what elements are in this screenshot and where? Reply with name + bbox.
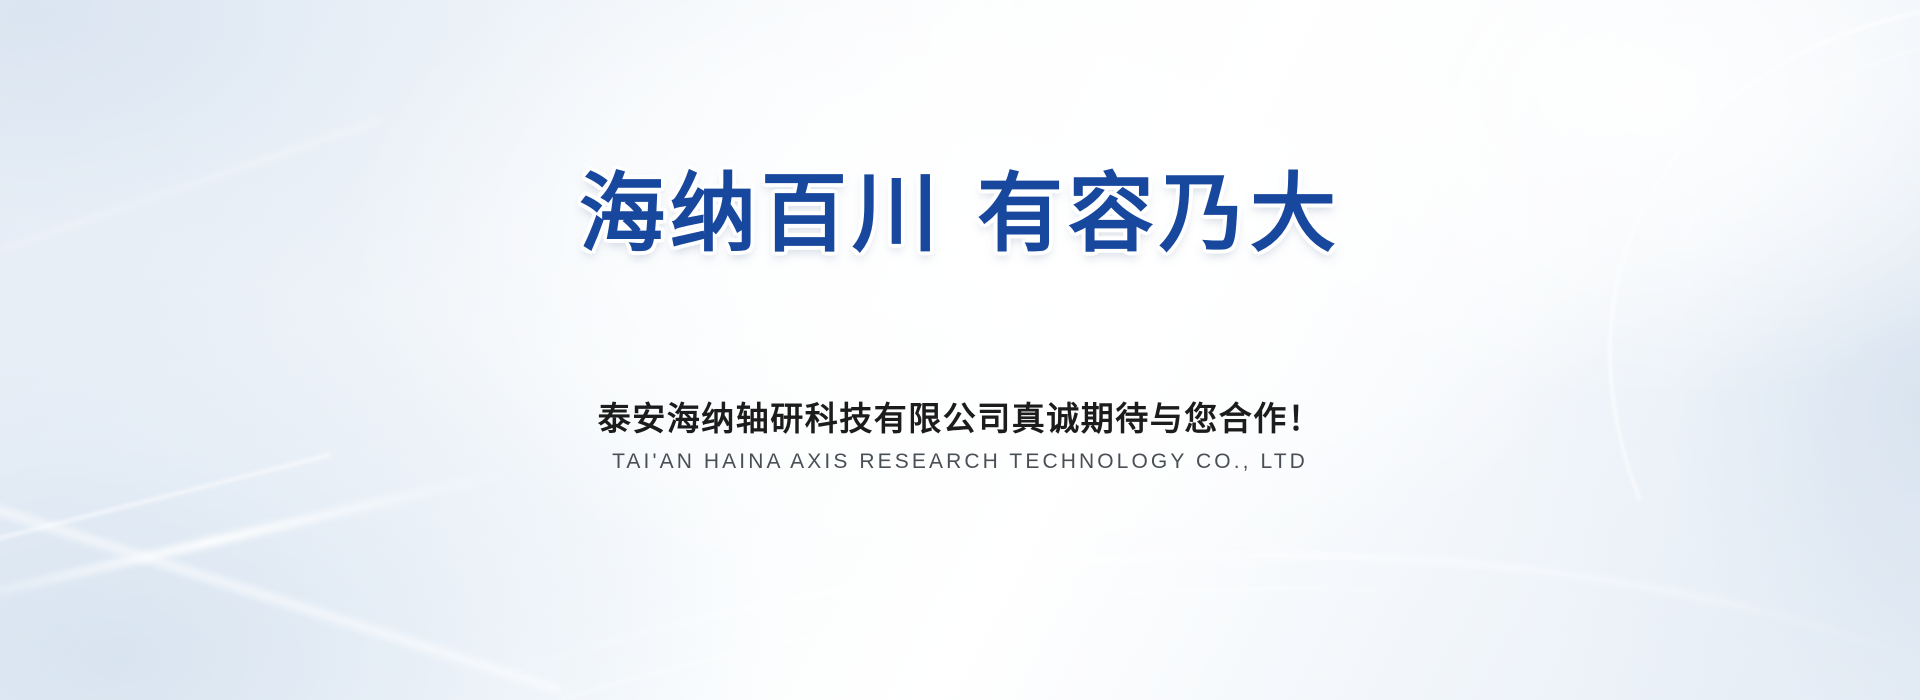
hero-banner: 海纳百川有容乃大 泰安海纳轴研科技有限公司真诚期待与您合作！ TAI'AN HA… bbox=[0, 0, 1920, 700]
headline-part-2: 有容乃大 bbox=[977, 164, 1341, 264]
subtitle-english: TAI'AN HAINA AXIS RESEARCH TECHNOLOGY CO… bbox=[0, 450, 1920, 474]
headline-part-1: 海纳百川 bbox=[579, 164, 943, 264]
page-title: 海纳百川有容乃大 bbox=[0, 168, 1920, 261]
banner-content: 海纳百川有容乃大 泰安海纳轴研科技有限公司真诚期待与您合作！ TAI'AN HA… bbox=[0, 0, 1920, 700]
subtitle-chinese: 泰安海纳轴研科技有限公司真诚期待与您合作！ bbox=[0, 392, 1920, 440]
